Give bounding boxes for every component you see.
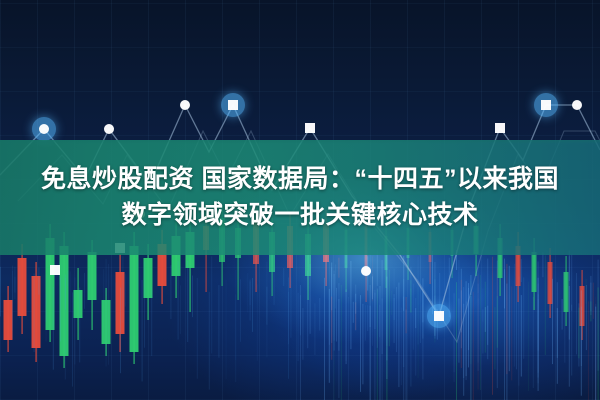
headline-line-2: 数字领域突破一批关键核心技术 <box>121 201 478 231</box>
banner-image: 免息炒股配资 国家数据局：“十四五”以来我国 数字领域突破一批关键核心技术 <box>0 0 600 400</box>
headline-block: 免息炒股配资 国家数据局：“十四五”以来我国 数字领域突破一批关键核心技术 <box>0 140 600 255</box>
headline-line-1: 免息炒股配资 国家数据局：“十四五”以来我国 <box>41 165 559 195</box>
